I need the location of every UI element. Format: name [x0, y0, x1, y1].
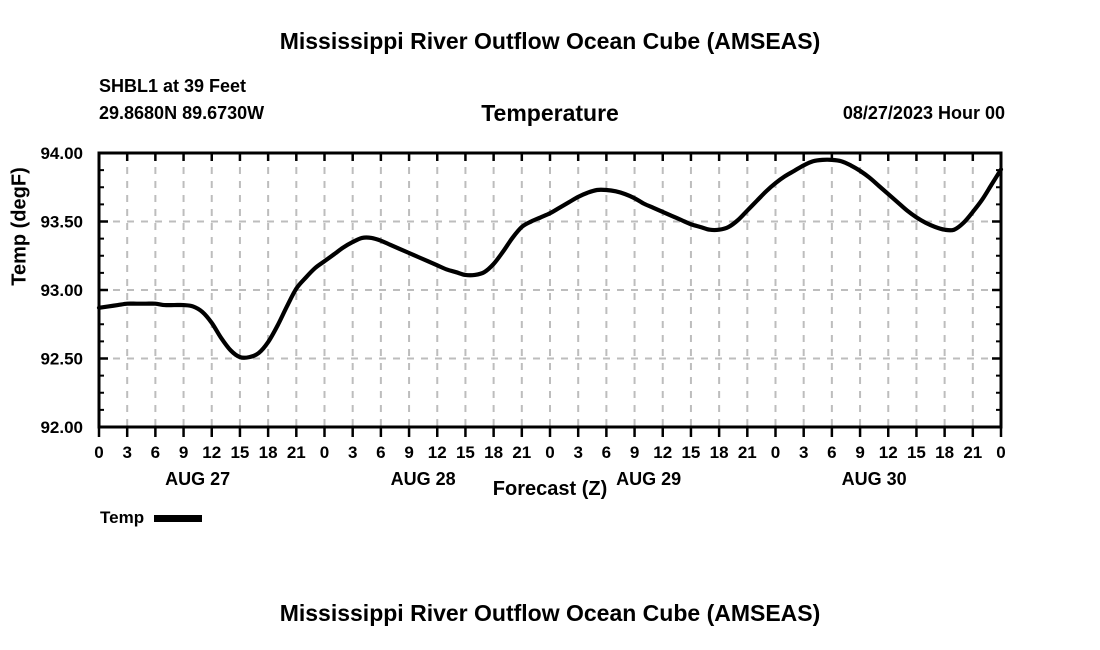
page-title-bottom: Mississippi River Outflow Ocean Cube (AM…: [0, 600, 1100, 627]
y-axis-tick-labels: 92.0092.5093.0093.5094.00: [40, 144, 83, 437]
svg-text:15: 15: [230, 443, 249, 462]
svg-text:21: 21: [512, 443, 531, 462]
svg-text:94.00: 94.00: [40, 144, 83, 163]
svg-text:21: 21: [963, 443, 982, 462]
legend-swatch-temp: [154, 515, 202, 522]
svg-text:18: 18: [935, 443, 954, 462]
svg-text:93.50: 93.50: [40, 213, 83, 232]
horizontal-gridlines: [99, 153, 1001, 427]
svg-text:15: 15: [907, 443, 926, 462]
chart-page: Mississippi River Outflow Ocean Cube (AM…: [0, 0, 1100, 650]
svg-text:0: 0: [996, 443, 1005, 462]
svg-text:9: 9: [630, 443, 639, 462]
svg-text:12: 12: [653, 443, 672, 462]
svg-text:6: 6: [602, 443, 611, 462]
svg-text:18: 18: [484, 443, 503, 462]
temperature-line-chart: 92.0092.5093.0093.5094.00 03691215182103…: [0, 0, 1100, 650]
svg-text:AUG 29: AUG 29: [616, 469, 681, 489]
svg-text:3: 3: [348, 443, 357, 462]
svg-text:12: 12: [879, 443, 898, 462]
svg-text:21: 21: [287, 443, 306, 462]
svg-text:6: 6: [827, 443, 836, 462]
svg-text:15: 15: [456, 443, 475, 462]
x-axis-day-labels: AUG 27AUG 28AUG 29AUG 30: [165, 469, 907, 489]
svg-text:9: 9: [404, 443, 413, 462]
svg-text:AUG 27: AUG 27: [165, 469, 230, 489]
svg-text:AUG 30: AUG 30: [842, 469, 907, 489]
svg-text:92.00: 92.00: [40, 418, 83, 437]
svg-text:0: 0: [320, 443, 329, 462]
svg-text:6: 6: [376, 443, 385, 462]
chart-legend: Temp: [100, 508, 202, 528]
svg-text:0: 0: [771, 443, 780, 462]
svg-text:21: 21: [738, 443, 757, 462]
svg-text:AUG 28: AUG 28: [391, 469, 456, 489]
svg-text:93.00: 93.00: [40, 281, 83, 300]
svg-text:3: 3: [573, 443, 582, 462]
svg-text:12: 12: [202, 443, 221, 462]
svg-text:3: 3: [122, 443, 131, 462]
legend-label-temp: Temp: [100, 508, 144, 528]
svg-text:3: 3: [799, 443, 808, 462]
temp-series-line: [99, 160, 1001, 358]
svg-text:9: 9: [855, 443, 864, 462]
svg-text:0: 0: [94, 443, 103, 462]
x-axis-tick-labels: 0369121518210369121518210369121518210369…: [94, 443, 1005, 462]
svg-text:18: 18: [259, 443, 278, 462]
svg-text:12: 12: [428, 443, 447, 462]
svg-text:0: 0: [545, 443, 554, 462]
svg-text:6: 6: [151, 443, 160, 462]
svg-text:9: 9: [179, 443, 188, 462]
svg-text:92.50: 92.50: [40, 350, 83, 369]
svg-text:18: 18: [710, 443, 729, 462]
svg-text:15: 15: [681, 443, 700, 462]
